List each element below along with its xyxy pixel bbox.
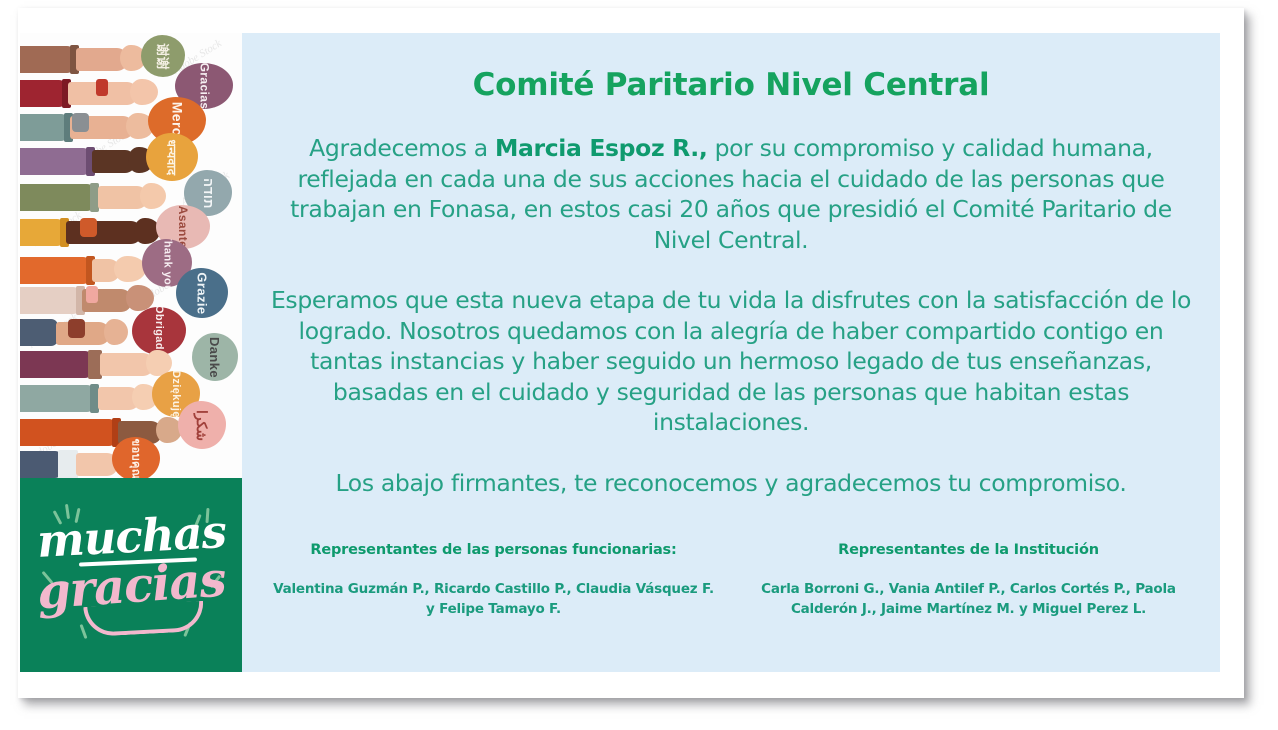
signatories-institution-column: Representantes de la Institución Carla B… [731, 542, 1206, 618]
paragraph-1-prefix: Agradecemos a [309, 134, 495, 162]
speech-bubble-arabic: شكرا [178, 401, 226, 449]
sleeve [20, 219, 64, 246]
sleeve [20, 287, 80, 314]
bracelet [80, 218, 97, 237]
signatories-institution-names: Carla Borroni G., Vania Antilef P., Carl… [741, 580, 1196, 618]
muchas-gracias-panel: muchas gracias [20, 478, 242, 672]
arm [66, 221, 142, 244]
sleeve [20, 46, 74, 73]
speech-bubble-thai: ขอบคุณ [112, 437, 160, 478]
certificate-card: Adobe Stock Adobe Stock Adobe Stock Adob… [20, 33, 1220, 672]
wristwatch [96, 79, 108, 96]
signatories-workers-heading: Representantes de las personas funcionar… [266, 542, 721, 558]
illustration-column: Adobe Stock Adobe Stock Adobe Stock Adob… [20, 33, 242, 672]
signatories-institution-heading: Representantes de la Institución [741, 542, 1196, 558]
page-title: Comité Paritario Nivel Central [256, 33, 1206, 103]
sleeve [20, 184, 94, 211]
speech-bubble-german: Danke [192, 333, 238, 381]
diverse-hands-illustration: Adobe Stock Adobe Stock Adobe Stock Adob… [20, 33, 242, 478]
hand [104, 319, 128, 345]
paragraph-gratitude: Agradecemos a Marcia Espoz R., por su co… [260, 133, 1202, 255]
signatories-workers-names: Valentina Guzmán P., Ricardo Castillo P.… [266, 580, 721, 618]
sleeve [20, 148, 90, 175]
speech-bubble-chinese: 谢谢 [141, 35, 185, 77]
sleeve [20, 114, 68, 141]
bracelet-stack [68, 319, 85, 338]
sleeve [20, 257, 90, 284]
signatories-section: Representantes de las personas funcionar… [256, 542, 1206, 618]
sleeve [20, 319, 58, 346]
bracelet [72, 113, 89, 132]
speech-bubble-portuguese: Obrigado [132, 307, 186, 355]
signatories-workers-column: Representantes de las personas funcionar… [256, 542, 731, 618]
bracelet [86, 286, 98, 303]
sleeve [20, 80, 66, 107]
sleeve [20, 451, 62, 478]
shirt-cuff [58, 450, 78, 478]
sleeve [20, 351, 92, 378]
sleeve [20, 419, 116, 446]
paragraph-wishes: Esperamos que esta nueva etapa de tu vid… [260, 285, 1202, 438]
message-column: Comité Paritario Nivel Central Agradecem… [242, 33, 1220, 672]
speech-bubble-hindi: धन्यवाद [146, 133, 198, 181]
paragraph-closing: Los abajo firmantes, te reconocemos y ag… [260, 468, 1202, 499]
honoree-name: Marcia Espoz R., [495, 134, 708, 162]
hand [140, 183, 166, 209]
hand [130, 79, 158, 105]
poster-page: Adobe Stock Adobe Stock Adobe Stock Adob… [0, 0, 1278, 730]
gracias-swash-flourish [83, 601, 204, 637]
speech-bubble-italian: Grazie [176, 268, 228, 318]
gracias-lettering: muchas gracias [20, 478, 242, 672]
sleeve [20, 385, 94, 412]
